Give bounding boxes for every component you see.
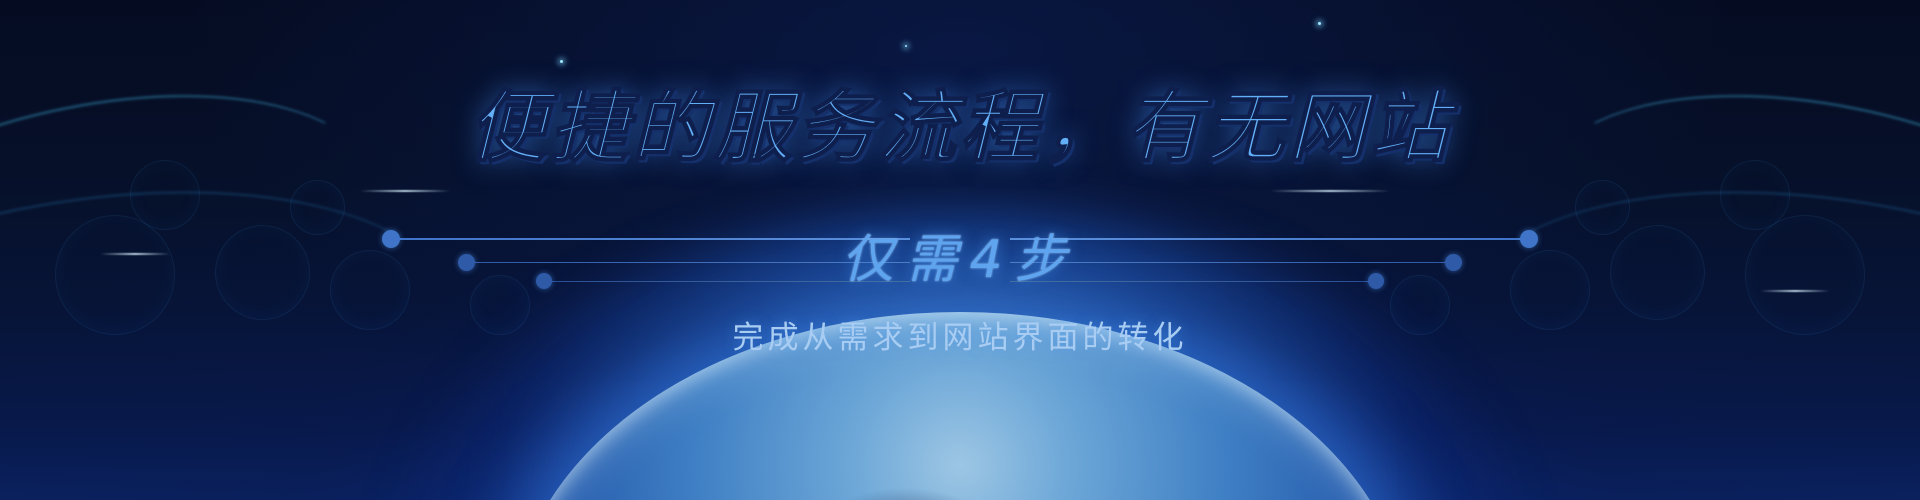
banner-subtitle: 仅需4步 xyxy=(0,208,1920,300)
hero-banner: 便捷的服务流程，有无网站 仅需4步 完成从需求到网站界面的转化 xyxy=(0,0,1920,500)
banner-tagline: 完成从需求到网站界面的转化 xyxy=(0,312,1920,357)
subtitle-row: 仅需4步 xyxy=(0,208,1920,300)
banner-content: 便捷的服务流程，有无网站 仅需4步 完成从需求到网站界面的转化 xyxy=(0,0,1920,500)
banner-headline: 便捷的服务流程，有无网站 xyxy=(0,86,1920,170)
